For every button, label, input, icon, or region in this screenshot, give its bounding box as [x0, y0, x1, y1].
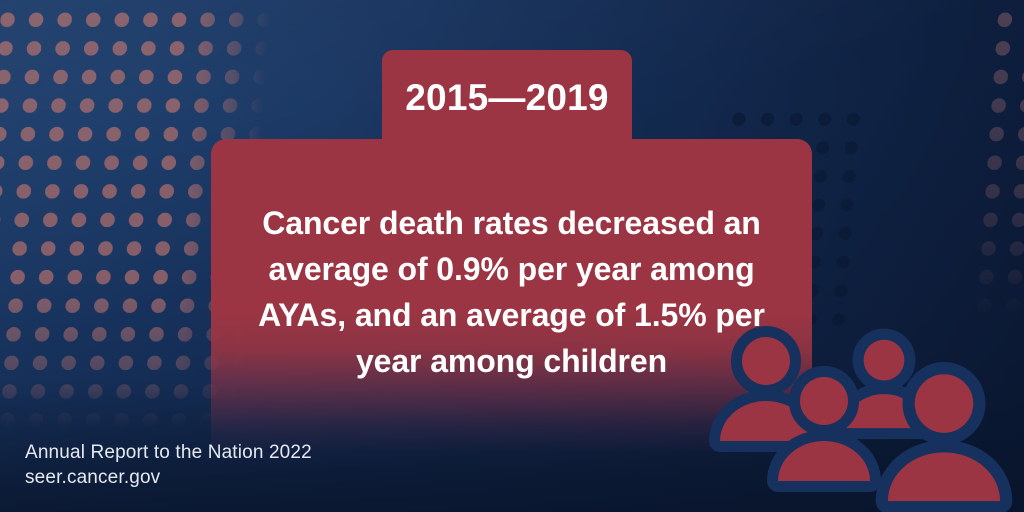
footer-report-title: Annual Report to the Nation 2022 [25, 440, 312, 465]
footer: Annual Report to the Nation 2022 seer.ca… [25, 440, 312, 490]
group-of-people-icon-svg [704, 317, 1024, 512]
year-range-label: 2015—2019 [405, 79, 608, 116]
footer-website[interactable]: seer.cancer.gov [25, 465, 312, 490]
group-of-people-icon [704, 317, 1024, 512]
year-range-banner: 2015—2019 [382, 50, 632, 145]
infographic-canvas: 2015—2019 Cancer death rates decreased a… [0, 0, 1024, 512]
